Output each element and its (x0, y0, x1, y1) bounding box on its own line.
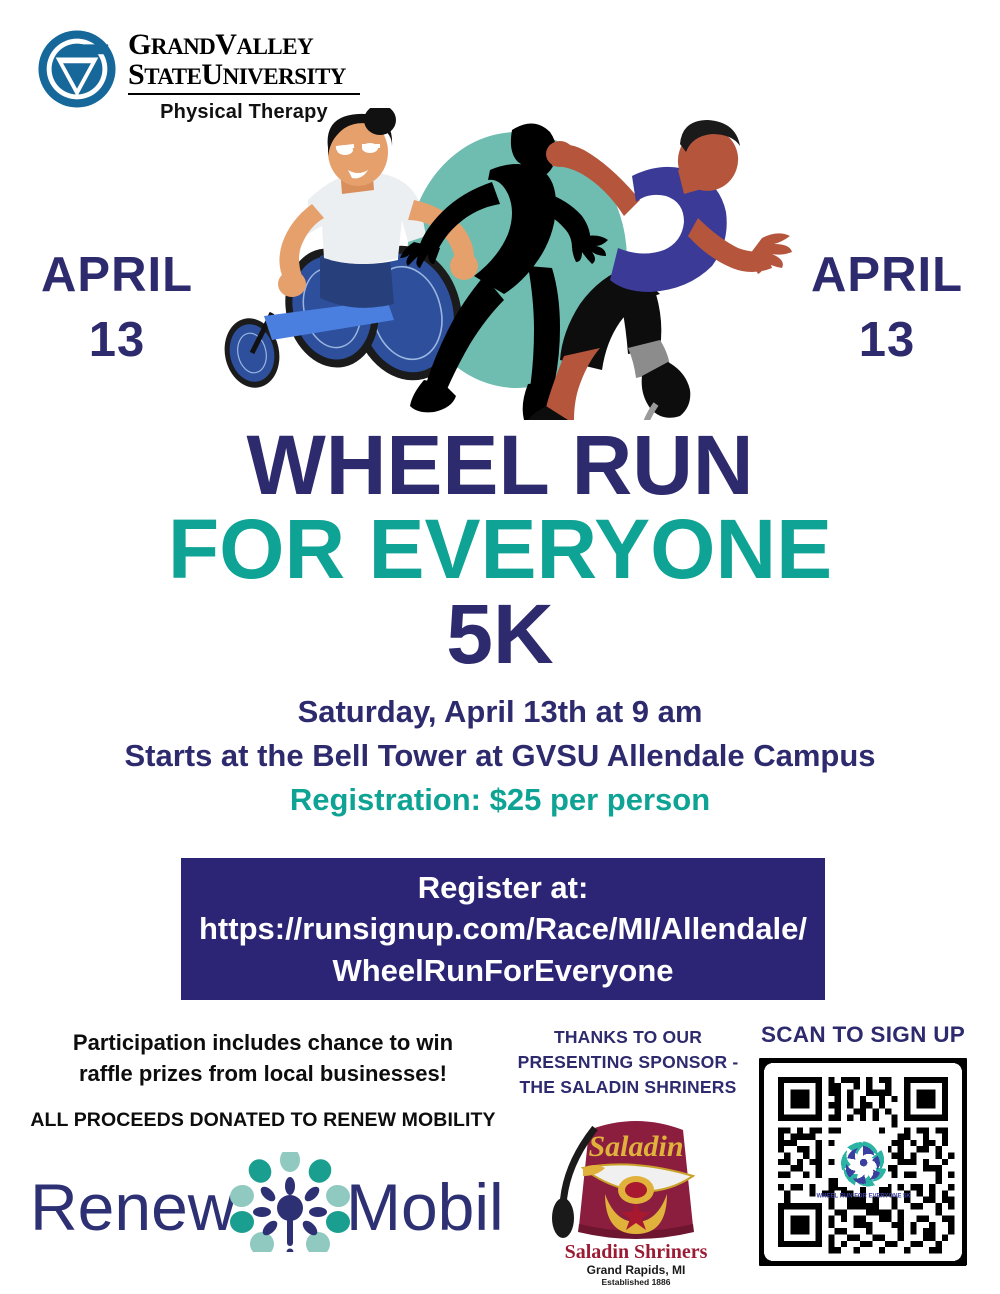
event-location: Starts at the Bell Tower at GVSU Allenda… (0, 734, 1000, 778)
proceeds-line: ALL PROCEEDS DONATED TO RENEW MOBILITY (18, 1109, 508, 1132)
register-heading: Register at: (418, 867, 589, 908)
qr-signup-block: SCAN TO SIGN UP (752, 1022, 974, 1266)
event-datetime: Saturday, April 13th at 9 am (0, 690, 1000, 734)
gvsu-name-line-1: GRANDVALLEY (128, 30, 366, 60)
sponsor-line-3: THE SALADIN SHRINERS (512, 1075, 744, 1100)
poster-title: WHEEL RUN FOR EVERYONE 5K (0, 424, 1000, 675)
gvsu-divider (128, 93, 360, 95)
title-line-5k: 5K (0, 593, 1000, 675)
sponsor-line-2: PRESENTING SPONSOR - (512, 1050, 744, 1075)
qr-center-caption: WHEEL RUN FOR EVERYONE 5K (817, 1193, 912, 1199)
renew-mobility-burst-icon (228, 1152, 352, 1252)
fez-script-saladin: Saladin (588, 1130, 683, 1163)
scan-to-sign-up-label: SCAN TO SIGN UP (752, 1022, 974, 1048)
date-left-month: APRIL (22, 243, 212, 308)
title-line-wheel-run: WHEEL RUN (0, 424, 1000, 506)
raffle-line-1: Participation includes chance to win (18, 1027, 508, 1058)
date-left-day: 13 (22, 308, 212, 373)
raffle-line-2: raffle prizes from local businesses! (18, 1058, 508, 1089)
saladin-shriners-fez-logo: Saladin Saladin Shriners Grand Rapids, M… (543, 1106, 729, 1286)
event-registration-fee: Registration: $25 per person (0, 778, 1000, 822)
shriners-established: Established 1886 (602, 1277, 671, 1286)
register-callout-box[interactable]: Register at: https://runsignup.com/Race/… (181, 858, 825, 1000)
date-flank-left: APRIL 13 (22, 243, 212, 372)
renew-mobility-word-renew: Renew (30, 1170, 236, 1244)
raffle-and-proceeds-block: Participation includes chance to win raf… (18, 1027, 508, 1132)
sponsor-line-1: THANKS TO OUR (512, 1025, 744, 1050)
renew-mobility-word-mobility: Mobility (346, 1170, 508, 1244)
register-url-line-1[interactable]: https://runsignup.com/Race/MI/Allendale/ (199, 908, 807, 949)
title-line-for-everyone: FOR EVERYONE (0, 508, 1000, 590)
event-details: Saturday, April 13th at 9 am Starts at t… (0, 690, 1000, 822)
renew-mobility-logo: Renew Mobility (28, 1152, 508, 1252)
qr-code[interactable]: WHEEL RUN FOR EVERYONE 5K (759, 1058, 967, 1266)
gvsu-g-v-mark-icon (36, 28, 118, 110)
register-url-line-2[interactable]: WheelRunForEveryone (332, 950, 673, 991)
gvsu-name-line-2: STATEUNIVERSITY (128, 60, 366, 90)
presenting-sponsor-text: THANKS TO OUR PRESENTING SPONSOR - THE S… (512, 1025, 744, 1100)
shriners-city: Grand Rapids, MI (587, 1263, 686, 1277)
athletes-illustration (212, 108, 832, 420)
shriners-name: Saladin Shriners (565, 1241, 708, 1263)
